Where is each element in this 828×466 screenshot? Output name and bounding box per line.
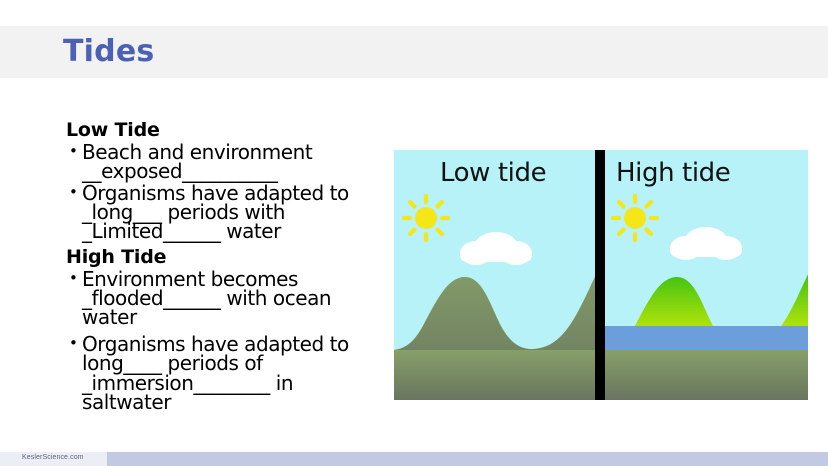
bullet-item: Organisms have adapted to _long___ perio…	[66, 184, 386, 242]
watermark-label: KeslerScience.com	[22, 454, 84, 461]
sun-icon	[613, 196, 657, 240]
tide-comparison-figure: Low tide High tide	[394, 150, 808, 400]
bullet-item: Beach and environment __exposed_________…	[66, 143, 386, 182]
sun-icon	[404, 196, 448, 240]
seabed-flat-high	[604, 350, 808, 400]
bullet-list-high-tide: Environment becomes _flooded______ with …	[66, 270, 386, 413]
heading-high-tide: High Tide	[66, 247, 386, 269]
body-content: Low Tide Beach and environment __exposed…	[66, 120, 386, 414]
bullet-item: Organisms have adapted to long____ perio…	[66, 335, 386, 413]
page-title: Tides	[63, 34, 154, 69]
footer-bar	[0, 452, 828, 466]
seabed-low	[394, 350, 608, 400]
heading-low-tide: Low Tide	[66, 120, 386, 142]
bullet-item: Environment becomes _flooded______ with …	[66, 270, 386, 328]
bullet-list-low-tide: Beach and environment __exposed_________…	[66, 143, 386, 242]
caption-high-tide: High tide	[616, 158, 730, 188]
panel-divider	[595, 150, 605, 400]
slide-canvas: Tides Low Tide Beach and environment __e…	[0, 0, 828, 466]
caption-low-tide: Low tide	[440, 158, 546, 188]
